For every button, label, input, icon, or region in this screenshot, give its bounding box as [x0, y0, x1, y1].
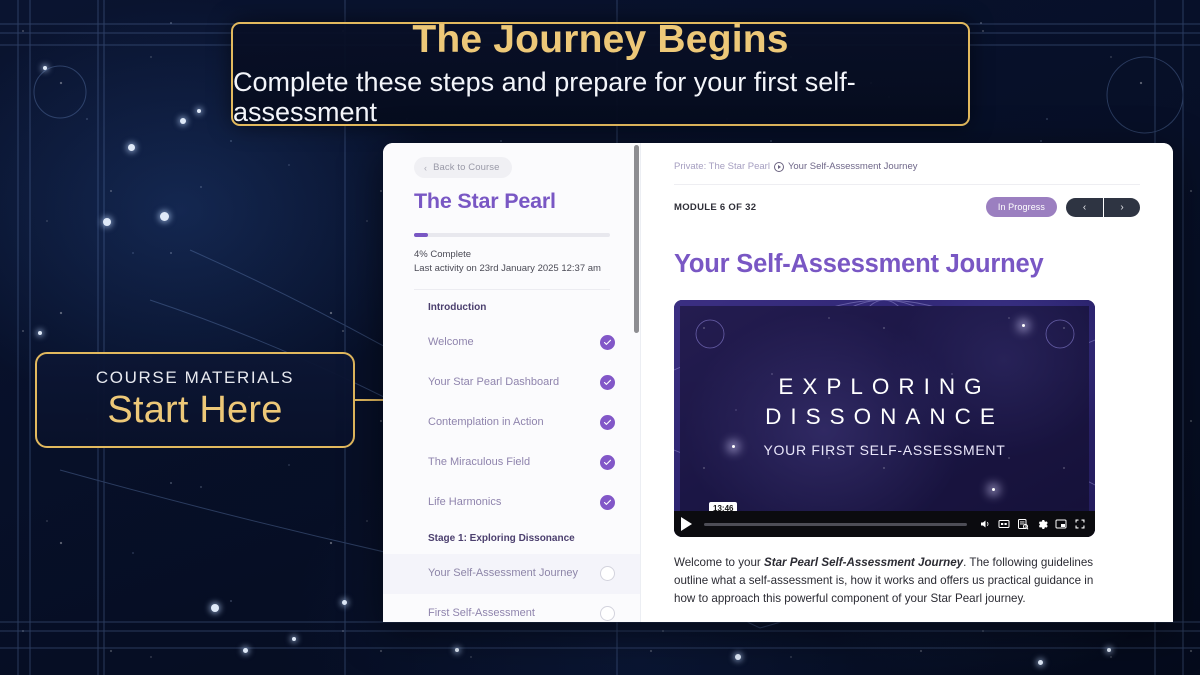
module-toolbar: MODULE 6 OF 32 In Progress ‹ › [674, 197, 1140, 217]
status-badge: In Progress [986, 197, 1057, 217]
breadcrumb: Private: The Star Pearl Your Self-Assess… [674, 161, 1140, 172]
course-progress-bar [414, 233, 610, 237]
lesson-incomplete-icon [600, 606, 615, 621]
background-star [197, 109, 201, 113]
lesson-video-player[interactable]: EXPLORING DISSONANCE YOUR FIRST SELF-ASS… [674, 300, 1095, 537]
callout-kicker: COURSE MATERIALS [96, 368, 294, 388]
lesson-paragraph: Welcome to your Star Pearl Self-Assessme… [674, 554, 1101, 608]
volume-icon[interactable] [979, 518, 991, 530]
course-title: The Star Pearl [414, 189, 622, 214]
module-counter: MODULE 6 OF 32 [674, 202, 756, 213]
paragraph-emphasis: Star Pearl Self-Assessment Journey [764, 556, 963, 569]
screenshot-stage: The Journey Begins Complete these steps … [0, 0, 1200, 675]
breadcrumb-rule [674, 184, 1140, 185]
prev-lesson-button[interactable]: ‹ [1066, 198, 1103, 217]
background-star [211, 604, 219, 612]
breadcrumb-current: Your Self-Assessment Journey [788, 161, 918, 172]
banner-subtitle: Complete these steps and prepare for you… [233, 68, 968, 127]
video-star-flare [1022, 324, 1025, 327]
background-star [292, 637, 296, 641]
lesson-item-label: First Self-Assessment [428, 606, 535, 620]
paragraph-lead: Welcome to your [674, 556, 764, 569]
lesson-item-label: Your Star Pearl Dashboard [428, 375, 559, 389]
check-icon [603, 418, 612, 427]
course-sidebar: ‹ Back to Course The Star Pearl 4% Compl… [383, 143, 641, 622]
check-icon [603, 458, 612, 467]
background-star [455, 648, 459, 652]
back-to-course-label: Back to Course [433, 162, 499, 173]
next-lesson-button[interactable]: › [1103, 198, 1140, 217]
journey-banner: The Journey Begins Complete these steps … [231, 22, 970, 126]
gear-icon[interactable] [1036, 518, 1048, 530]
transcript-icon[interactable] [1017, 518, 1029, 530]
video-star-flare [992, 488, 995, 491]
lesson-item[interactable]: Your Star Pearl Dashboard [383, 363, 640, 403]
background-star [1107, 648, 1111, 652]
lesson-item-label: Welcome [428, 335, 474, 349]
progress-label: 4% Complete [414, 248, 622, 262]
lesson-group-label: Stage 1: Exploring Dissonance [383, 523, 640, 554]
lesson-item-label: The Miraculous Field [428, 455, 530, 469]
callout-title: Start Here [107, 389, 282, 432]
video-subtitle: YOUR FIRST SELF-ASSESSMENT [674, 442, 1095, 458]
video-title-line2: DISSONANCE [674, 402, 1095, 432]
video-control-bar [674, 511, 1095, 537]
lesson-item[interactable]: Your Self-Assessment Journey [383, 554, 640, 594]
play-circle-icon [774, 162, 784, 172]
lesson-group-label: Introduction [383, 292, 640, 323]
lesson-complete-icon [600, 335, 615, 350]
background-star [180, 118, 186, 124]
check-icon [603, 498, 612, 507]
banner-title: The Journey Begins [412, 20, 788, 61]
lesson-complete-icon [600, 375, 615, 390]
background-star [1038, 660, 1043, 665]
chevron-left-icon: ‹ [424, 163, 427, 173]
lesson-nav-group: ‹ › [1066, 198, 1140, 217]
sidebar-divider [414, 289, 610, 290]
course-progress-fill [414, 233, 428, 237]
lesson-item[interactable]: Contemplation in Action [383, 403, 640, 443]
page-title: Your Self-Assessment Journey [674, 250, 1140, 279]
lesson-list: IntroductionWelcomeYour Star Pearl Dashb… [383, 292, 640, 623]
back-to-course-button[interactable]: ‹ Back to Course [414, 157, 512, 178]
video-title-block: EXPLORING DISSONANCE YOUR FIRST SELF-ASS… [674, 372, 1095, 458]
lesson-item-label: Your Self-Assessment Journey [428, 566, 578, 580]
fullscreen-icon[interactable] [1074, 518, 1086, 530]
background-star [128, 144, 135, 151]
picture-in-picture-icon[interactable] [1055, 518, 1067, 530]
last-activity-label: Last activity on 23rd January 2025 12:37… [414, 262, 622, 276]
lesson-complete-icon [600, 415, 615, 430]
background-star [103, 218, 111, 226]
start-here-callout: COURSE MATERIALS Start Here [35, 352, 355, 448]
background-star [38, 331, 42, 335]
breadcrumb-root[interactable]: Private: The Star Pearl [674, 161, 770, 172]
background-star [160, 212, 169, 221]
video-title-line1: EXPLORING [674, 372, 1095, 402]
check-icon [603, 338, 612, 347]
background-star [43, 66, 47, 70]
lesson-incomplete-icon [600, 566, 615, 581]
background-star [735, 654, 741, 660]
lesson-item[interactable]: Welcome [383, 323, 640, 363]
background-star [243, 648, 248, 653]
check-icon [603, 378, 612, 387]
sidebar-scrollbar-thumb[interactable] [634, 145, 639, 333]
play-icon[interactable] [681, 517, 692, 531]
lesson-item[interactable]: First Self-Assessment [383, 594, 640, 623]
lesson-main-pane: Private: The Star Pearl Your Self-Assess… [641, 143, 1173, 622]
lesson-complete-icon [600, 455, 615, 470]
course-app-window: ‹ Back to Course The Star Pearl 4% Compl… [383, 143, 1173, 622]
lesson-item-label: Life Harmonics [428, 495, 501, 509]
lesson-item-label: Contemplation in Action [428, 415, 544, 429]
lesson-item[interactable]: The Miraculous Field [383, 443, 640, 483]
closed-captions-icon[interactable] [998, 518, 1010, 530]
lesson-item[interactable]: Life Harmonics [383, 483, 640, 523]
video-progress-bar[interactable] [704, 523, 967, 526]
lesson-complete-icon [600, 495, 615, 510]
background-star [342, 600, 347, 605]
